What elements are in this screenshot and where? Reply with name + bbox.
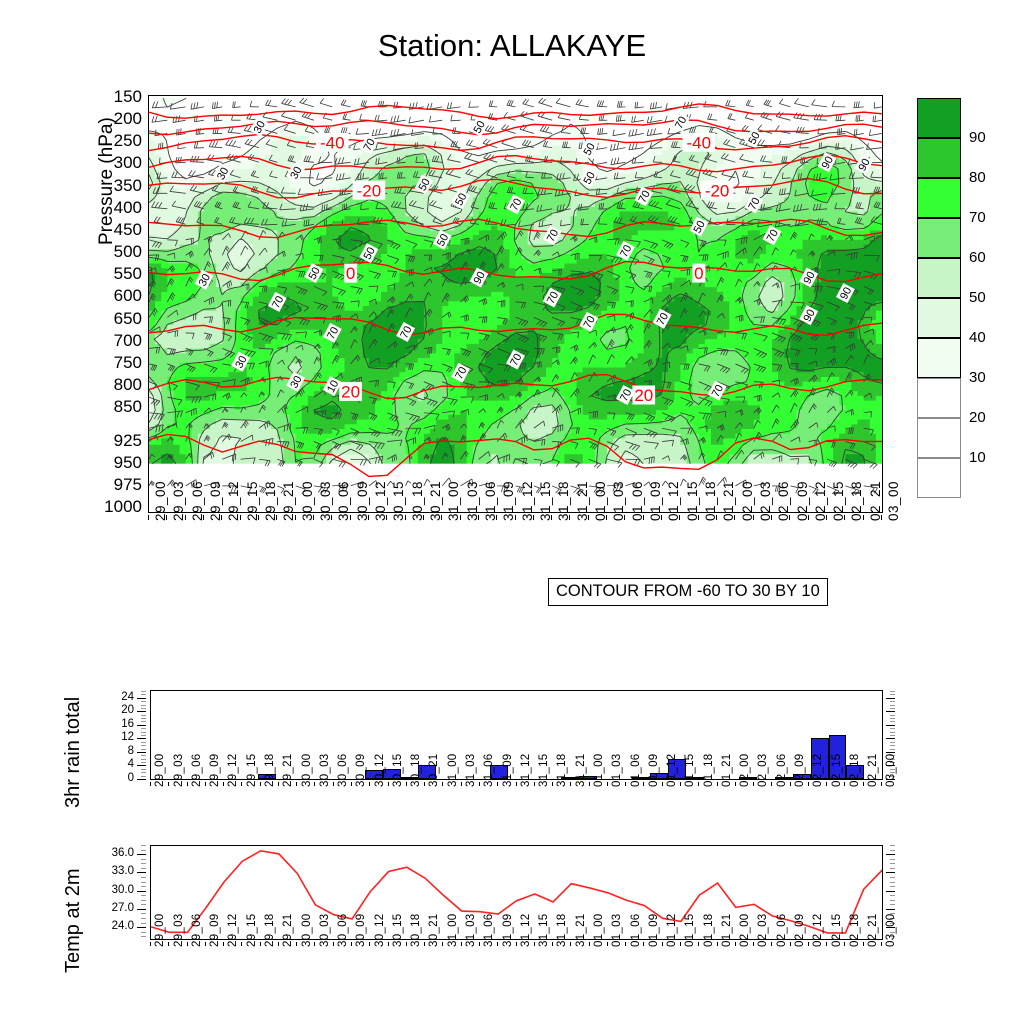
x-tick-mark	[790, 782, 791, 786]
x-tick-mark	[534, 942, 535, 946]
temp-y-tick-mark	[137, 854, 146, 855]
temp-y-minor-tick	[890, 868, 895, 869]
x-tick-label: 29_09	[209, 754, 221, 787]
rain-y-minor-tick	[141, 762, 146, 763]
x-tick-label: 02_21	[867, 914, 879, 947]
main-y-tick-label: 925	[86, 432, 142, 449]
x-tick-label: 01_18	[703, 754, 715, 787]
temp-y-minor-tick	[890, 886, 895, 887]
x-tick-mark	[241, 782, 242, 786]
x-tick-label: 02_21	[867, 754, 879, 787]
x-tick-label: 30_09	[355, 914, 367, 947]
x-tick-mark	[187, 782, 188, 786]
x-tick-label: 02_03	[757, 914, 769, 947]
temp-y-minor-tick	[141, 913, 146, 914]
temp-y-tick-mark	[886, 909, 895, 910]
x-tick-mark	[276, 515, 277, 520]
x-tick-label: 01_12	[666, 754, 678, 787]
x-tick-mark	[441, 515, 442, 520]
x-tick-label: 29_21	[282, 914, 294, 947]
rain-y-minor-tick	[141, 705, 146, 706]
x-tick-label: 29_18	[264, 914, 276, 947]
x-tick-mark	[314, 782, 315, 786]
rain-y-minor-tick	[890, 749, 895, 750]
x-tick-label: 03_00	[886, 481, 901, 521]
x-tick-mark	[717, 942, 718, 946]
rain-y-minor-tick	[141, 742, 146, 743]
x-tick-label: 30_03	[319, 914, 331, 947]
rain-y-minor-tick	[890, 718, 895, 719]
x-tick-mark	[844, 515, 845, 520]
main-y-tick-label: 450	[86, 221, 142, 238]
rain-y-minor-tick	[890, 745, 895, 746]
x-tick-mark	[790, 942, 791, 946]
rain-y-minor-tick	[141, 721, 146, 722]
temp-y-tick-label: 27.0	[104, 903, 134, 915]
rain-plot-area	[150, 690, 883, 780]
x-tick-label: 30_15	[392, 754, 404, 787]
x-tick-label: 30_12	[374, 914, 386, 947]
x-tick-label: 29_21	[282, 754, 294, 787]
x-tick-mark	[497, 782, 498, 786]
rain-y-minor-tick	[141, 718, 146, 719]
temp-y-minor-tick	[890, 850, 895, 851]
contour-note: CONTOUR FROM -60 TO 30 BY 10	[548, 578, 828, 606]
x-tick-mark	[241, 942, 242, 946]
x-tick-mark	[516, 782, 517, 786]
x-tick-label: 29_15	[246, 914, 258, 947]
temp-y-minor-tick	[141, 850, 146, 851]
x-tick-label: 02_09	[794, 914, 806, 947]
rain-y-tick-label: 20	[116, 705, 134, 717]
temp-y-minor-tick	[890, 845, 895, 846]
x-tick-mark	[717, 782, 718, 786]
x-tick-mark	[369, 942, 370, 946]
rain-y-minor-tick	[890, 742, 895, 743]
x-tick-mark	[386, 515, 387, 520]
x-tick-label: 31_15	[538, 754, 550, 787]
x-tick-label: 02_06	[776, 754, 788, 787]
temp-y-minor-tick	[141, 895, 146, 896]
x-tick-mark	[150, 942, 151, 946]
x-tick-mark	[753, 515, 754, 520]
rain-y-minor-tick	[890, 694, 895, 695]
x-tick-mark	[771, 515, 772, 520]
x-tick-label: 29_06	[191, 914, 203, 947]
main-y-tick-label: 950	[86, 454, 142, 471]
x-tick-mark	[424, 782, 425, 786]
temp-y-tick-label: 33.0	[104, 866, 134, 878]
x-tick-mark	[278, 942, 279, 946]
colorbar-label: 50	[969, 289, 986, 306]
x-tick-mark	[625, 782, 626, 786]
temp-x-axis-ticks: 29_0029_0329_0629_0929_1229_1529_1829_21…	[150, 942, 883, 1002]
x-tick-mark	[753, 942, 754, 946]
x-tick-label: 31_21	[575, 754, 587, 787]
colorbar-label: 90	[969, 129, 986, 146]
x-tick-mark	[881, 942, 882, 946]
x-tick-label: 30_09	[355, 754, 367, 787]
temp-y-axis-ticks: 24.027.030.033.036.0	[100, 845, 146, 940]
rain-x-axis-ticks: 29_0029_0329_0629_0929_1229_1529_1829_21…	[150, 782, 883, 842]
temp-y-minor-tick	[141, 936, 146, 937]
rain-y-minor-tick	[890, 708, 895, 709]
x-tick-label: 31_15	[538, 914, 550, 947]
rain-y-tick-label: 0	[116, 773, 134, 785]
x-tick-mark	[351, 942, 352, 946]
rain-y-minor-tick	[141, 769, 146, 770]
colorbar-cell	[917, 378, 961, 418]
x-tick-mark	[808, 515, 809, 520]
x-tick-mark	[643, 515, 644, 520]
colorbar-cell	[917, 338, 961, 378]
x-tick-mark	[388, 782, 389, 786]
rain-y-minor-tick	[141, 694, 146, 695]
x-tick-mark	[442, 782, 443, 786]
colorbar-label: 60	[969, 249, 986, 266]
x-tick-mark	[551, 515, 552, 520]
x-tick-label: 02_15	[831, 754, 843, 787]
rain-y-tick-label: 16	[116, 719, 134, 731]
x-tick-mark	[295, 515, 296, 520]
x-tick-label: 31_03	[465, 754, 477, 787]
temp-y-tick-mark	[137, 927, 146, 928]
x-tick-mark	[461, 942, 462, 946]
x-tick-mark	[753, 782, 754, 786]
temp-y-minor-tick	[890, 863, 895, 864]
x-tick-label: 02_00	[739, 754, 751, 787]
x-tick-mark	[588, 515, 589, 520]
main-y-tick-label: 700	[86, 332, 142, 349]
x-tick-label: 02_06	[776, 914, 788, 947]
x-tick-mark	[168, 782, 169, 786]
main-y-tick-label: 1000	[86, 498, 142, 515]
rain-y-tick-mark	[886, 738, 895, 739]
x-tick-label: 30_12	[374, 754, 386, 787]
x-tick-label: 31_06	[483, 914, 495, 947]
x-tick-mark	[808, 942, 809, 946]
x-tick-mark	[424, 942, 425, 946]
rain-y-minor-tick	[141, 691, 146, 692]
main-y-tick-label: 150	[86, 88, 142, 105]
x-tick-mark	[771, 782, 772, 786]
x-tick-label: 02_18	[849, 914, 861, 947]
x-tick-mark	[278, 782, 279, 786]
x-tick-mark	[643, 942, 644, 946]
x-tick-mark	[478, 515, 479, 520]
x-tick-label: 29_03	[173, 754, 185, 787]
colorbar-label: 80	[969, 169, 986, 186]
temp-y-minor-tick	[890, 900, 895, 901]
x-tick-mark	[661, 515, 662, 520]
x-tick-label: 01_09	[648, 914, 660, 947]
x-tick-label: 30_15	[392, 914, 404, 947]
x-tick-label: 31_06	[483, 754, 495, 787]
x-tick-mark	[570, 942, 571, 946]
x-tick-mark	[479, 782, 480, 786]
temp-y-tick-mark	[137, 872, 146, 873]
main-y-tick-label: 550	[86, 265, 142, 282]
x-tick-mark	[333, 782, 334, 786]
x-tick-mark	[881, 782, 882, 786]
rain-y-minor-tick	[141, 755, 146, 756]
temp-y-tick-mark	[137, 891, 146, 892]
x-tick-mark	[552, 782, 553, 786]
x-tick-mark	[607, 942, 608, 946]
x-tick-mark	[260, 942, 261, 946]
x-tick-label: 31_00	[447, 914, 459, 947]
x-tick-mark	[826, 515, 827, 520]
x-tick-label: 02_03	[757, 754, 769, 787]
x-tick-label: 02_12	[812, 914, 824, 947]
x-tick-mark	[388, 942, 389, 946]
x-tick-mark	[150, 782, 151, 786]
x-tick-mark	[808, 782, 809, 786]
rain-y-minor-tick	[141, 759, 146, 760]
temp-y-minor-tick	[141, 863, 146, 864]
x-tick-mark	[625, 942, 626, 946]
x-tick-mark	[679, 515, 680, 520]
rain-y-minor-tick	[141, 715, 146, 716]
x-tick-mark	[863, 942, 864, 946]
temp-y-minor-tick	[890, 882, 895, 883]
temperature-line-graphic	[151, 846, 882, 939]
x-tick-label: 29_12	[227, 914, 239, 947]
rain-y-minor-tick	[890, 735, 895, 736]
colorbar-label: 70	[969, 209, 986, 226]
colorbar-cell	[917, 258, 961, 298]
x-tick-label: 01_06	[630, 914, 642, 947]
rain-y-minor-tick	[890, 715, 895, 716]
colorbar-cell	[917, 458, 961, 498]
x-tick-label: 30_06	[337, 914, 349, 947]
main-y-axis-ticks: 1502002503003504004505005506006507007508…	[86, 95, 142, 513]
rain-y-axis-ticks: 04812162024	[116, 690, 146, 780]
x-tick-mark	[406, 942, 407, 946]
x-tick-mark	[148, 515, 149, 520]
x-tick-label: 31_18	[556, 914, 568, 947]
x-tick-mark	[369, 782, 370, 786]
rain-y-minor-tick	[890, 691, 895, 692]
rain-y-minor-tick	[141, 776, 146, 777]
x-tick-label: 30_06	[337, 754, 349, 787]
x-tick-mark	[405, 515, 406, 520]
rain-y-minor-tick	[141, 749, 146, 750]
x-tick-mark	[203, 515, 204, 520]
temp-y-minor-tick	[141, 904, 146, 905]
x-tick-mark	[187, 942, 188, 946]
x-tick-mark	[497, 942, 498, 946]
x-tick-label: 03_00	[885, 914, 897, 947]
colorbar-label: 20	[969, 409, 986, 426]
cross-section-panel: Pressure (hPa) 1502002503003504004505005…	[148, 95, 883, 513]
x-tick-label: 01_03	[611, 754, 623, 787]
x-tick-mark	[260, 782, 261, 786]
rain-y-minor-tick	[141, 708, 146, 709]
x-tick-mark	[314, 942, 315, 946]
x-tick-label: 30_21	[428, 754, 440, 787]
rain-y-tick-mark	[137, 711, 146, 712]
x-tick-label: 31_12	[520, 754, 532, 787]
x-tick-mark	[423, 515, 424, 520]
temp-y-tick-label: 24.0	[104, 921, 134, 933]
x-tick-label: 31_18	[556, 754, 568, 787]
x-tick-label: 01_21	[721, 914, 733, 947]
rain-y-minor-tick	[141, 701, 146, 702]
x-tick-label: 29_15	[246, 754, 258, 787]
main-y-tick-label: 600	[86, 287, 142, 304]
colorbar-cell	[917, 298, 961, 338]
rain-y-minor-tick	[890, 732, 895, 733]
x-tick-mark	[406, 782, 407, 786]
rain-y-tick-mark	[137, 738, 146, 739]
x-tick-mark	[606, 515, 607, 520]
colorbar-label: 10	[969, 449, 986, 466]
cross-section-page: Station: ALLAKAYE Pressure (hPa) 1502002…	[0, 0, 1024, 1024]
x-tick-label: 29_12	[227, 754, 239, 787]
colorbar-label: 30	[969, 369, 986, 386]
x-tick-mark	[350, 515, 351, 520]
rain-y-minor-tick	[141, 735, 146, 736]
x-tick-label: 30_18	[410, 914, 422, 947]
x-tick-mark	[223, 782, 224, 786]
x-tick-mark	[442, 942, 443, 946]
x-tick-mark	[589, 782, 590, 786]
x-tick-label: 01_12	[666, 914, 678, 947]
colorbar-cell	[917, 98, 961, 138]
x-tick-mark	[716, 515, 717, 520]
x-tick-mark	[734, 515, 735, 520]
x-tick-mark	[168, 942, 169, 946]
x-tick-label: 01_15	[684, 754, 696, 787]
temp-y-tick-mark	[886, 872, 895, 873]
temp-y-minor-tick	[141, 882, 146, 883]
x-tick-label: 30_00	[301, 914, 313, 947]
x-tick-label: 02_09	[794, 754, 806, 787]
temp-y-tick-mark	[886, 854, 895, 855]
rain-y-tick-mark	[137, 698, 146, 699]
x-tick-label: 29_18	[264, 754, 276, 787]
x-tick-mark	[607, 782, 608, 786]
main-y-tick-label: 250	[86, 132, 142, 149]
x-tick-label: 01_00	[593, 914, 605, 947]
temp-y-tick-mark	[886, 891, 895, 892]
x-tick-mark	[680, 782, 681, 786]
main-y-tick-label: 800	[86, 376, 142, 393]
x-tick-label: 31_03	[465, 914, 477, 947]
temp-y-minor-tick	[141, 859, 146, 860]
x-tick-mark	[698, 942, 699, 946]
x-tick-label: 01_06	[630, 754, 642, 787]
x-tick-label: 29_03	[173, 914, 185, 947]
temp-y-minor-tick	[890, 859, 895, 860]
x-tick-label: 29_09	[209, 914, 221, 947]
x-tick-label: 01_03	[611, 914, 623, 947]
x-tick-label: 02_18	[849, 754, 861, 787]
x-tick-label: 02_12	[812, 754, 824, 787]
x-tick-mark	[863, 782, 864, 786]
colorbar-label: 40	[969, 329, 986, 346]
x-tick-mark	[735, 782, 736, 786]
x-tick-mark	[826, 782, 827, 786]
temp-y-tick-label: 36.0	[104, 848, 134, 860]
x-tick-mark	[881, 515, 882, 520]
x-tick-label: 01_00	[593, 754, 605, 787]
x-tick-label: 01_18	[703, 914, 715, 947]
x-tick-mark	[569, 515, 570, 520]
x-tick-mark	[205, 782, 206, 786]
temp-y-minor-tick	[141, 868, 146, 869]
colorbar-cell	[917, 218, 961, 258]
temp-plot-area	[150, 845, 883, 940]
temp-y-minor-tick	[890, 895, 895, 896]
x-tick-mark	[624, 515, 625, 520]
page-title: Station: ALLAKAYE	[0, 28, 1024, 64]
x-tick-label: 02_00	[739, 914, 751, 947]
x-tick-mark	[368, 515, 369, 520]
rain-y-tick-label: 8	[116, 746, 134, 758]
x-tick-label: 30_18	[410, 754, 422, 787]
rain-y-minor-tick	[141, 732, 146, 733]
x-tick-label: 30_00	[301, 754, 313, 787]
x-tick-mark	[166, 515, 167, 520]
x-tick-label: 01_15	[684, 914, 696, 947]
rain-y-tick-label: 4	[116, 759, 134, 771]
x-tick-label: 31_12	[520, 914, 532, 947]
x-tick-mark	[516, 942, 517, 946]
rain-y-minor-tick	[890, 728, 895, 729]
x-tick-mark	[698, 515, 699, 520]
x-tick-mark	[789, 515, 790, 520]
x-tick-mark	[240, 515, 241, 520]
main-y-tick-label: 850	[86, 398, 142, 415]
temp-y-tick-label: 30.0	[104, 885, 134, 897]
main-y-tick-label: 400	[86, 199, 142, 216]
cross-section-graphic: -40-40-20-200020203070505070503030505070…	[149, 96, 882, 512]
x-tick-mark	[534, 782, 535, 786]
x-tick-label: 29_00	[154, 914, 166, 947]
x-tick-label: 30_03	[319, 754, 331, 787]
x-tick-label: 31_09	[502, 754, 514, 787]
x-tick-mark	[533, 515, 534, 520]
temp-y-minor-tick	[141, 900, 146, 901]
x-tick-mark	[515, 515, 516, 520]
temp-y-minor-tick	[141, 918, 146, 919]
x-tick-mark	[570, 782, 571, 786]
x-tick-label: 31_21	[575, 914, 587, 947]
main-y-tick-label: 975	[86, 476, 142, 493]
rain-y-tick-mark	[137, 752, 146, 753]
x-tick-mark	[296, 782, 297, 786]
rain-y-tick-mark	[137, 765, 146, 766]
x-tick-label: 30_21	[428, 914, 440, 947]
rain-y-minor-tick	[890, 705, 895, 706]
temp-y-axis-label: Temp at 2m	[62, 869, 85, 973]
x-tick-label: 01_09	[648, 754, 660, 787]
x-tick-mark	[863, 515, 864, 520]
temp-y-minor-tick	[890, 877, 895, 878]
rain-y-minor-tick	[890, 721, 895, 722]
x-tick-mark	[662, 942, 663, 946]
rain-panel: 3hr rain total 04812162024 29_0029_0329_…	[150, 690, 883, 780]
x-tick-label: 31_09	[502, 914, 514, 947]
temp-y-minor-tick	[141, 923, 146, 924]
temperature-panel: Temp at 2m 24.027.030.033.036.0 29_0029_…	[150, 845, 883, 940]
x-tick-label: 31_00	[447, 754, 459, 787]
x-tick-mark	[552, 942, 553, 946]
temp-y-minor-tick	[141, 877, 146, 878]
rain-y-tick-mark	[886, 698, 895, 699]
